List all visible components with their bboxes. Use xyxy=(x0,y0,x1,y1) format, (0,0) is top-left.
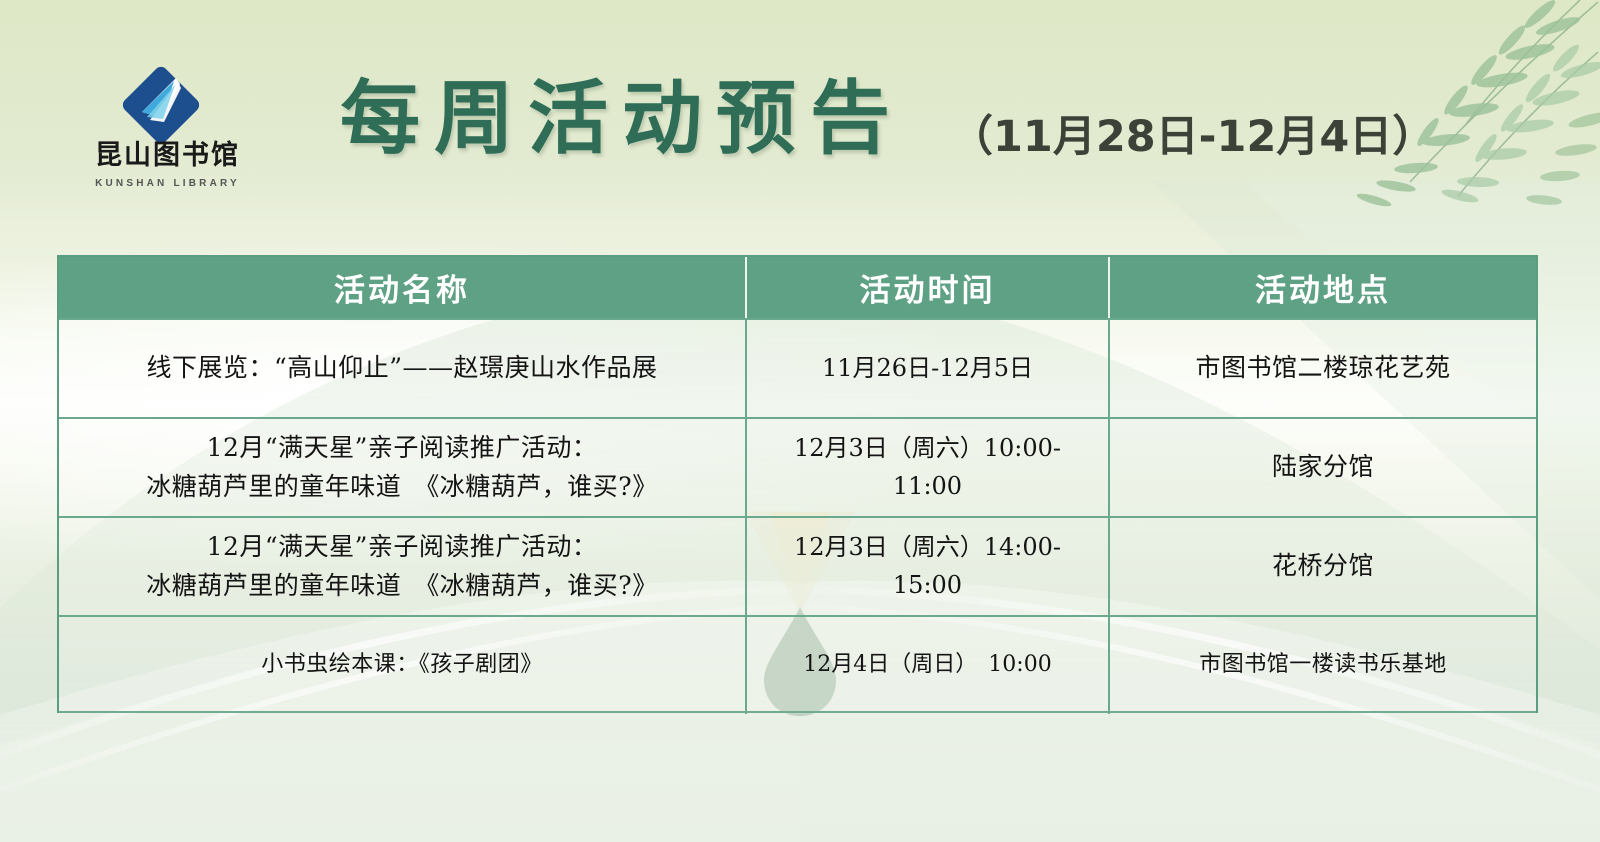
cell-event-name: 线下展览：“高山仰止”——赵璟庚山水作品展 xyxy=(59,320,745,417)
column-header-time: 活动时间 xyxy=(745,257,1108,318)
events-table: 活动名称 活动时间 活动地点 线下展览：“高山仰止”——赵璟庚山水作品展 11月… xyxy=(57,255,1538,713)
table-row[interactable]: 小书虫绘本课：《孩子剧团》 12月4日（周日） 10:00 市图书馆一楼读书乐基… xyxy=(59,615,1536,714)
cell-event-name: 12月“满天星”亲子阅读推广活动： 冰糖葫芦里的童年味道 《冰糖葫芦，谁买?》 xyxy=(59,419,745,516)
event-name-line: 线下展览：“高山仰止”——赵璟庚山水作品展 xyxy=(146,349,657,388)
date-range: （11月28日-12月4日） xyxy=(950,116,1435,159)
column-header-name: 活动名称 xyxy=(59,257,745,318)
event-name-line: 12月“满天星”亲子阅读推广活动： xyxy=(146,429,657,468)
event-name-line: 冰糖葫芦里的童年味道 《冰糖葫芦，谁买?》 xyxy=(146,567,657,606)
cell-event-place: 市图书馆一楼读书乐基地 xyxy=(1108,617,1536,714)
cell-event-time: 12月3日（周六）10:00-11:00 xyxy=(745,419,1108,516)
event-name-line: 冰糖葫芦里的童年味道 《冰糖葫芦，谁买?》 xyxy=(146,468,657,507)
cell-event-time: 12月4日（周日） 10:00 xyxy=(745,617,1108,714)
library-diamond-book-icon xyxy=(118,62,204,148)
poster-canvas: 昆山图书馆 KUNSHAN LIBRARY 每周活动预告 （11月28日-12月… xyxy=(0,0,1600,842)
logo-name-en: KUNSHAN LIBRARY xyxy=(80,178,255,189)
page-title: 每周活动预告 xyxy=(340,78,904,158)
table-header-row: 活动名称 活动时间 活动地点 xyxy=(59,257,1536,318)
cell-event-place: 陆家分馆 xyxy=(1108,419,1536,516)
cell-event-name: 12月“满天星”亲子阅读推广活动： 冰糖葫芦里的童年味道 《冰糖葫芦，谁买?》 xyxy=(59,518,745,615)
event-name-line: 小书虫绘本课：《孩子剧团》 xyxy=(261,648,543,682)
cell-event-name: 小书虫绘本课：《孩子剧团》 xyxy=(59,617,745,714)
column-header-place: 活动地点 xyxy=(1108,257,1536,318)
cell-event-time: 12月3日（周六）14:00-15:00 xyxy=(745,518,1108,615)
cell-event-place: 市图书馆二楼琼花艺苑 xyxy=(1108,320,1536,417)
table-row[interactable]: 12月“满天星”亲子阅读推广活动： 冰糖葫芦里的童年味道 《冰糖葫芦，谁买?》 … xyxy=(59,516,1536,615)
library-logo: 昆山图书馆 KUNSHAN LIBRARY xyxy=(80,62,255,187)
cell-event-place: 花桥分馆 xyxy=(1108,518,1536,615)
event-name-line: 12月“满天星”亲子阅读推广活动： xyxy=(146,528,657,567)
cell-event-time: 11月26日-12月5日 xyxy=(745,320,1108,417)
logo-name-cn: 昆山图书馆 xyxy=(80,142,255,169)
table-row[interactable]: 12月“满天星”亲子阅读推广活动： 冰糖葫芦里的童年味道 《冰糖葫芦，谁买?》 … xyxy=(59,417,1536,516)
table-row[interactable]: 线下展览：“高山仰止”——赵璟庚山水作品展 11月26日-12月5日 市图书馆二… xyxy=(59,318,1536,417)
